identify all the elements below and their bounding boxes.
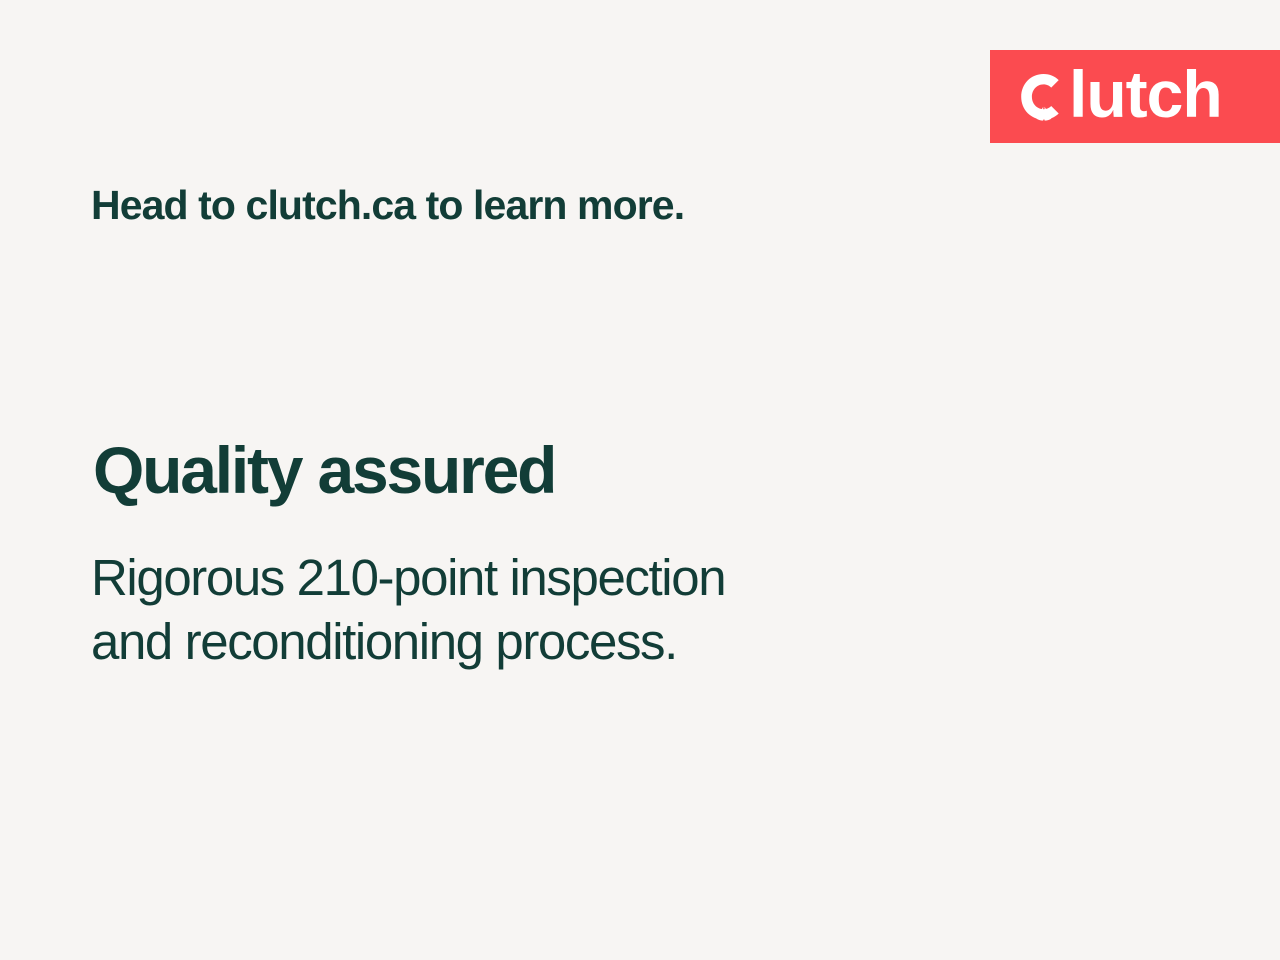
clutch-logo-text: lutch <box>1069 61 1222 127</box>
clutch-logo-block[interactable]: lutch <box>990 50 1280 143</box>
body-copy-line-1: Rigorous 210-point inspection <box>91 546 725 610</box>
body-copy: Rigorous 210-point inspection and recond… <box>91 546 725 674</box>
clutch-c-mark-icon <box>1018 69 1068 125</box>
slide-canvas: lutch Head to clutch.ca to learn more. Q… <box>0 0 1280 960</box>
body-copy-line-2: and reconditioning process. <box>91 610 725 674</box>
clutch-wordmark: lutch <box>1018 50 1222 143</box>
page-title: Quality assured <box>93 436 555 505</box>
tagline-text: Head to clutch.ca to learn more. <box>91 182 684 229</box>
